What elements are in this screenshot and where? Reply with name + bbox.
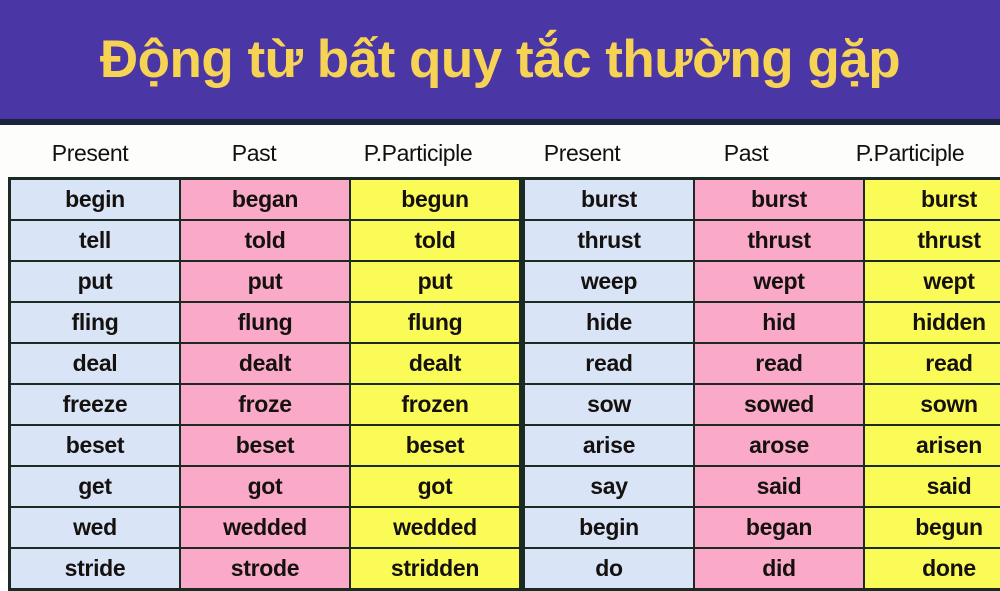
- table-row: saysaidsaid: [524, 466, 1000, 507]
- table-row: burstburstburst: [524, 179, 1000, 221]
- table-row: getgotgot: [10, 466, 521, 507]
- table-row: freezefrozefrozen: [10, 384, 521, 425]
- cell-present: deal: [10, 343, 181, 384]
- table-row: beginbeganbegun: [10, 179, 521, 221]
- cell-participle: frozen: [350, 384, 521, 425]
- verb-table-left: beginbeganbegun telltoldtold putputput f…: [8, 177, 522, 591]
- cell-present: weep: [524, 261, 695, 302]
- cell-past: strode: [180, 548, 350, 590]
- cell-past: said: [694, 466, 864, 507]
- cell-present: arise: [524, 425, 695, 466]
- cell-present: tell: [10, 220, 181, 261]
- cell-participle: arisen: [864, 425, 1000, 466]
- verb-tables: beginbeganbegun telltoldtold putputput f…: [8, 177, 992, 591]
- cell-past: did: [694, 548, 864, 590]
- cell-present: stride: [10, 548, 181, 590]
- page-root: Động từ bất quy tắc thường gặp Present P…: [0, 0, 1000, 573]
- table-row: flingflungflung: [10, 302, 521, 343]
- cell-present: fling: [10, 302, 181, 343]
- cell-past: read: [694, 343, 864, 384]
- cell-past: began: [694, 507, 864, 548]
- cell-participle: beset: [350, 425, 521, 466]
- cell-participle: got: [350, 466, 521, 507]
- cell-participle: put: [350, 261, 521, 302]
- cell-present: read: [524, 343, 695, 384]
- cell-past: froze: [180, 384, 350, 425]
- cell-participle: sown: [864, 384, 1000, 425]
- table-row: hidehidhidden: [524, 302, 1000, 343]
- cell-present: do: [524, 548, 695, 590]
- cell-present: sow: [524, 384, 695, 425]
- cell-past: arose: [694, 425, 864, 466]
- cell-past: dealt: [180, 343, 350, 384]
- banner-underline: [0, 119, 1000, 125]
- cell-participle: told: [350, 220, 521, 261]
- column-header-present-left: Present: [8, 133, 172, 173]
- table-row: besetbesetbeset: [10, 425, 521, 466]
- cell-participle: wedded: [350, 507, 521, 548]
- cell-past: got: [180, 466, 350, 507]
- table-row: sowsowedsown: [524, 384, 1000, 425]
- table-row: stridestrodestridden: [10, 548, 521, 590]
- cell-past: sowed: [694, 384, 864, 425]
- cell-past: wedded: [180, 507, 350, 548]
- cell-present: thrust: [524, 220, 695, 261]
- column-header-participle-right: P.Participle: [828, 133, 992, 173]
- table-row: beginbeganbegun: [524, 507, 1000, 548]
- cell-present: hide: [524, 302, 695, 343]
- cell-participle: flung: [350, 302, 521, 343]
- verb-table-left-body: beginbeganbegun telltoldtold putputput f…: [10, 179, 521, 590]
- cell-present: say: [524, 466, 695, 507]
- table-row: arisearosearisen: [524, 425, 1000, 466]
- cell-past: burst: [694, 179, 864, 221]
- column-header-participle-left: P.Participle: [336, 133, 500, 173]
- cell-participle: begun: [864, 507, 1000, 548]
- title-banner: Động từ bất quy tắc thường gặp: [0, 0, 1000, 119]
- cell-participle: burst: [864, 179, 1000, 221]
- page-title: Động từ bất quy tắc thường gặp: [100, 32, 900, 88]
- cell-present: beset: [10, 425, 181, 466]
- table-row: dodiddone: [524, 548, 1000, 590]
- table-row: thrustthrustthrust: [524, 220, 1000, 261]
- column-header-present-right: Present: [500, 133, 664, 173]
- table-row: dealdealtdealt: [10, 343, 521, 384]
- table-row: telltoldtold: [10, 220, 521, 261]
- cell-participle: stridden: [350, 548, 521, 590]
- table-row: readreadread: [524, 343, 1000, 384]
- cell-past: hid: [694, 302, 864, 343]
- cell-participle: begun: [350, 179, 521, 221]
- cell-past: put: [180, 261, 350, 302]
- cell-past: thrust: [694, 220, 864, 261]
- table-row: wedweddedwedded: [10, 507, 521, 548]
- cell-participle: hidden: [864, 302, 1000, 343]
- cell-past: told: [180, 220, 350, 261]
- cell-present: put: [10, 261, 181, 302]
- table-row: weepweptwept: [524, 261, 1000, 302]
- cell-past: began: [180, 179, 350, 221]
- cell-participle: dealt: [350, 343, 521, 384]
- cell-present: wed: [10, 507, 181, 548]
- cell-past: beset: [180, 425, 350, 466]
- verb-table-right: burstburstburst thrustthrustthrust weepw…: [522, 177, 1000, 591]
- cell-past: flung: [180, 302, 350, 343]
- cell-present: get: [10, 466, 181, 507]
- cell-present: burst: [524, 179, 695, 221]
- cell-past: wept: [694, 261, 864, 302]
- column-header-past-left: Past: [172, 133, 336, 173]
- cell-present: begin: [524, 507, 695, 548]
- cell-present: begin: [10, 179, 181, 221]
- cell-participle: thrust: [864, 220, 1000, 261]
- cell-participle: read: [864, 343, 1000, 384]
- cell-participle: said: [864, 466, 1000, 507]
- column-header-past-right: Past: [664, 133, 828, 173]
- cell-present: freeze: [10, 384, 181, 425]
- cell-participle: done: [864, 548, 1000, 590]
- cell-participle: wept: [864, 261, 1000, 302]
- column-header-row: Present Past P.Participle Present Past P…: [8, 133, 992, 173]
- table-row: putputput: [10, 261, 521, 302]
- verb-table-right-body: burstburstburst thrustthrustthrust weepw…: [524, 179, 1000, 590]
